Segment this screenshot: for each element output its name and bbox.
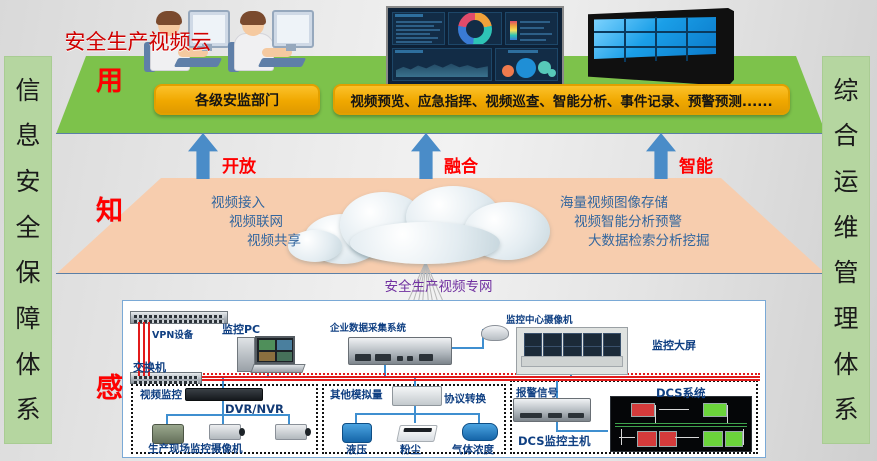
cloud-capability-item: 大数据检索分析挖掘 bbox=[588, 232, 775, 251]
cloud-title: 安全生产视频云 bbox=[0, 26, 276, 56]
dcs-host-wire bbox=[556, 430, 608, 432]
arrow-label-open: 开放 bbox=[222, 152, 256, 177]
dashboard-bubble-panel bbox=[495, 48, 558, 81]
monitor-pc-label: 监控PC bbox=[222, 321, 260, 337]
dvr-nvr-image bbox=[185, 388, 263, 401]
center-camera-label: 监控中心摄像机 bbox=[506, 312, 573, 326]
cloud-capability-item: 视频联网 bbox=[120, 213, 283, 232]
sensor-drop-wire bbox=[478, 413, 480, 423]
pc-monitor-image bbox=[255, 336, 295, 364]
rail-char: 障 bbox=[15, 306, 40, 331]
dashboard-area-chart-panel bbox=[392, 48, 492, 81]
rail-char: 运 bbox=[833, 169, 858, 194]
rail-char: 系 bbox=[833, 397, 858, 422]
layer-label-sense: 感 bbox=[96, 375, 123, 402]
hydraulic-label: 液压 bbox=[346, 442, 367, 457]
private-network-label: 安全生产视频专网 bbox=[0, 275, 877, 295]
sensor-drop-wire bbox=[355, 413, 357, 423]
area-sparkline bbox=[396, 59, 488, 77]
rail-char: 信 bbox=[15, 78, 40, 103]
up-arrow-icon-converge bbox=[411, 133, 441, 179]
video-wall-image bbox=[588, 8, 734, 86]
dust-sensor-icon bbox=[396, 425, 438, 442]
architecture-diagram: 信 息 安 全 保 障 体 系 综 合 运 维 管 理 体 系 用 知 感 bbox=[0, 0, 877, 461]
site-cameras-label: 生产现场监控摄像机 bbox=[148, 441, 243, 456]
cloud-capability-item: 视频接入 bbox=[120, 194, 265, 213]
cloud-capabilities-right: 海量视频图像存储 视频智能分析预警 大数据检索分析挖掘 bbox=[560, 194, 775, 251]
bullet-camera-icon bbox=[275, 424, 307, 440]
dvr-trunk-wire bbox=[222, 401, 224, 415]
dashboard-heatmap-panel bbox=[505, 12, 558, 45]
dust-label: 粉尘 bbox=[400, 442, 421, 457]
safety-supervision-departments-box[interactable]: 各级安监部门 bbox=[154, 84, 320, 115]
data-collector-image bbox=[348, 337, 452, 365]
camera-drop-wire bbox=[288, 414, 290, 424]
color-scale bbox=[510, 21, 517, 40]
big-screen-label: 监控大屏 bbox=[652, 337, 696, 353]
application-functions-box[interactable]: 视频预览、应急指挥、视频巡查、智能分析、事件记录、预警预测...... bbox=[333, 84, 790, 115]
donut-chart bbox=[458, 12, 492, 45]
dcs-host-label: DCS监控主机 bbox=[518, 433, 590, 449]
pc-keyboard-image bbox=[250, 364, 305, 373]
hair-shape bbox=[240, 11, 266, 25]
layer-label-apply: 用 bbox=[96, 68, 123, 95]
right-rail-ops-management: 综 合 运 维 管 理 体 系 bbox=[822, 56, 870, 444]
alarm-bus-line bbox=[130, 379, 760, 381]
dvr-nvr-label: DVR/NVR bbox=[225, 402, 284, 416]
dome-camera-icon bbox=[481, 325, 509, 341]
dashboard-table-panel bbox=[392, 12, 445, 45]
rail-char: 安 bbox=[15, 169, 40, 194]
layer-label-know: 知 bbox=[96, 198, 123, 225]
dcs-hmi-screen-image bbox=[610, 396, 752, 452]
video-monitoring-label: 视频监控 bbox=[140, 387, 182, 402]
rail-char: 息 bbox=[15, 123, 40, 148]
switch-device-label: 交换机 bbox=[133, 359, 166, 375]
vpn-device-label: VPN设备 bbox=[152, 327, 193, 341]
video-cloud-shape bbox=[288, 186, 564, 266]
dashboard-top-row bbox=[392, 12, 558, 45]
cloud-capability-item: 海量视频图像存储 bbox=[560, 194, 775, 213]
rail-char: 维 bbox=[833, 215, 858, 240]
rail-char: 理 bbox=[833, 306, 858, 331]
rail-char: 体 bbox=[833, 352, 858, 377]
gas-sensor-icon bbox=[462, 423, 498, 441]
dcs-system-label: DCS系统 bbox=[656, 385, 705, 401]
cloud-capabilities-left: 视频接入 视频联网 视频共享 bbox=[120, 194, 265, 251]
alarm-bus-line bbox=[130, 376, 760, 378]
sensor-trunk-wire bbox=[355, 413, 480, 415]
protocol-converter-label: 协议转换 bbox=[444, 391, 486, 406]
control-room-image bbox=[516, 327, 628, 375]
dashboard-bottom-row bbox=[392, 48, 558, 81]
hydraulic-sensor-icon bbox=[342, 423, 372, 443]
camera-drop-wire bbox=[166, 414, 168, 424]
rail-char: 合 bbox=[833, 123, 858, 148]
cloud-capability-item: 视频智能分析预警 bbox=[574, 213, 775, 232]
rail-char: 系 bbox=[15, 397, 40, 422]
cloud-capability-item: 视频共享 bbox=[120, 232, 301, 251]
rail-char: 综 bbox=[833, 78, 858, 103]
rail-char: 全 bbox=[15, 215, 40, 240]
rail-char: 体 bbox=[15, 352, 40, 377]
collector-camera-link bbox=[452, 347, 484, 349]
camera-drop-wire bbox=[222, 414, 224, 424]
data-bus-dotted bbox=[180, 373, 760, 375]
keyboard-icon bbox=[174, 58, 222, 67]
protocol-converter-image bbox=[392, 386, 442, 406]
hair-shape bbox=[156, 11, 182, 25]
rail-char: 保 bbox=[15, 260, 40, 285]
apply-layer-divider bbox=[56, 133, 826, 134]
dcs-host-image bbox=[513, 398, 591, 422]
sensor-drop-wire bbox=[414, 413, 416, 423]
arrow-label-intelligent: 智能 bbox=[679, 152, 713, 177]
gas-concentration-label: 气体浓度 bbox=[452, 442, 494, 457]
video-wall-bezel-grid bbox=[594, 17, 716, 59]
up-arrow-icon-open bbox=[188, 133, 218, 179]
analog-signals-label: 其他模拟量 bbox=[330, 387, 383, 402]
dashboard-donut-panel bbox=[448, 12, 501, 45]
monitor-stand bbox=[286, 44, 296, 51]
data-collector-label: 企业数据采集系统 bbox=[330, 320, 406, 334]
left-rail-information-security: 信 息 安 全 保 障 体 系 bbox=[4, 56, 52, 444]
bullet-camera-icon bbox=[209, 424, 241, 440]
analytics-dashboard-image bbox=[386, 6, 564, 88]
keyboard-icon bbox=[258, 58, 306, 67]
alarm-signal-label: 报警信号 bbox=[516, 385, 558, 400]
arrow-label-converge: 融合 bbox=[444, 152, 478, 177]
up-arrow-icon-intelligent bbox=[646, 133, 676, 179]
rail-char: 管 bbox=[833, 260, 858, 285]
monitor-icon bbox=[272, 10, 314, 48]
